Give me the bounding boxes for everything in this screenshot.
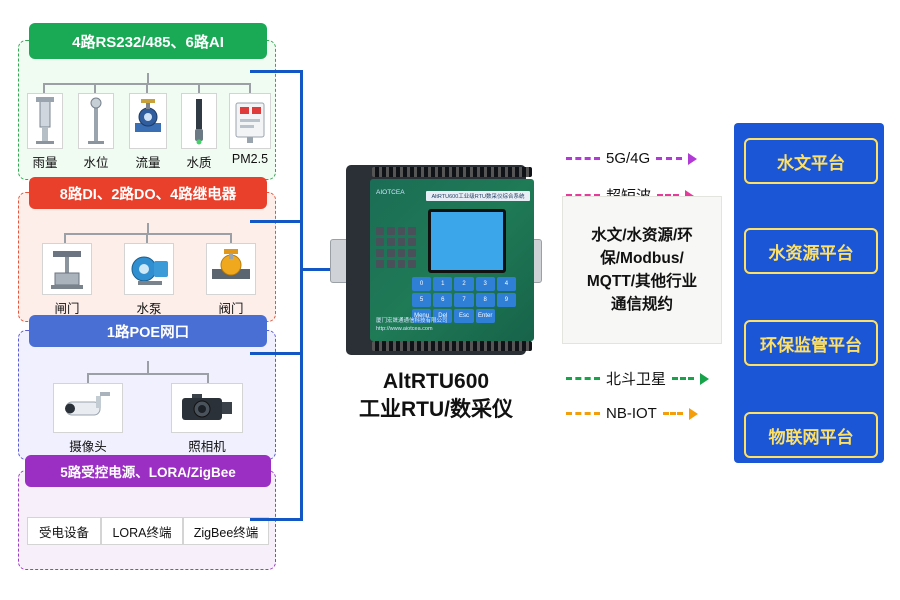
group-serial-analog: 4路RS232/485、6路AI 雨量 xyxy=(18,40,276,180)
still-camera-icon xyxy=(171,383,243,433)
dashed-line-icon xyxy=(656,157,682,160)
group-poe-port: 1路POE网口 摄像头 xyxy=(18,330,276,460)
sluice-gate-icon xyxy=(42,243,92,295)
platform-label: 环保监管平台 xyxy=(760,331,862,356)
connector-drop xyxy=(146,233,148,243)
link-nbiot: NB-IOT xyxy=(566,405,698,422)
connector-drop xyxy=(198,83,200,93)
keypad-key[interactable]: 4 xyxy=(497,277,516,291)
connector-drop xyxy=(249,83,251,93)
keypad-key-esc[interactable]: Esc xyxy=(454,309,473,323)
keypad-key[interactable]: 2 xyxy=(454,277,473,291)
water-quality-probe-icon xyxy=(181,93,217,149)
wire-trunk xyxy=(300,70,303,520)
protocol-list: 水文/水资源/环 保/Modbus/ MQTT/其他行业 通信规约 xyxy=(562,196,722,344)
device-zigbee-terminal: ZigBee终端 xyxy=(183,517,269,545)
arrow-right-icon xyxy=(688,153,697,165)
device-caption: PM2.5 xyxy=(232,152,268,166)
device-flow-meter: 流量 xyxy=(127,93,169,171)
wire-branch-group1 xyxy=(250,70,303,73)
device-rain-gauge: 雨量 xyxy=(25,93,65,171)
zigbee-terminal-label: ZigBee终端 xyxy=(183,517,269,545)
device-ip-camera: 摄像头 xyxy=(53,383,123,455)
device-brand: AIOTCEA xyxy=(376,189,405,196)
lora-terminal-label: LORA终端 xyxy=(101,517,183,545)
terminal-strip-bottom xyxy=(372,341,532,351)
protocol-line-4: 通信规约 xyxy=(587,293,697,316)
keypad-key[interactable]: 7 xyxy=(454,293,473,307)
powered-device-label: 受电设备 xyxy=(27,517,101,545)
link-5g4g: 5G/4G xyxy=(566,150,697,167)
wire-branch-group3 xyxy=(250,352,303,355)
dashed-line-icon xyxy=(672,377,694,380)
flow-meter-icon xyxy=(129,93,167,149)
device-lora-terminal: LORA终端 xyxy=(101,517,183,545)
protocol-line-3: MQTT/其他行业 xyxy=(587,270,697,293)
link-label: 5G/4G xyxy=(606,150,650,167)
device-valve: 阀门 xyxy=(205,243,257,317)
device-footer: 厦门宏晟通通信科技有限公司 http://www.aiotcea.com xyxy=(376,317,448,334)
keypad-key[interactable]: 9 xyxy=(497,293,516,307)
connector-stem xyxy=(147,73,149,83)
device-caption: 流量 xyxy=(135,152,160,171)
device-powered-device: 受电设备 xyxy=(27,517,101,545)
platform-label: 水资源平台 xyxy=(769,239,854,264)
device-lcd-screen[interactable] xyxy=(428,209,506,273)
platform-iot[interactable]: 物联网平台 xyxy=(744,412,878,458)
dashed-line-icon xyxy=(566,157,600,160)
group-digital-io-header: 8路DI、2路DO、4路继电器 xyxy=(29,177,267,209)
keypad-key[interactable]: 8 xyxy=(476,293,495,307)
device-website: http://www.aiotcea.com xyxy=(376,325,448,333)
water-pump-icon xyxy=(124,243,174,295)
protocol-text: 水文/水资源/环 保/Modbus/ MQTT/其他行业 通信规约 xyxy=(587,224,697,317)
arrow-right-icon xyxy=(689,408,698,420)
connector-drop xyxy=(64,233,66,243)
keypad-key[interactable]: 1 xyxy=(433,277,452,291)
connector-drop xyxy=(43,83,45,93)
platform-environment[interactable]: 环保监管平台 xyxy=(744,320,878,366)
rtu-device: AIOTCEA AltRTU600工业级RTU数采仪综合系统 0 1 2 3 4… xyxy=(330,165,542,355)
device-type: 工业RTU/数采仪 xyxy=(318,396,554,424)
device-company: 厦门宏晟通通信科技有限公司 xyxy=(376,317,448,325)
device-model: AltRTU600 xyxy=(318,368,554,396)
keypad-key[interactable]: 5 xyxy=(412,293,431,307)
ip-camera-icon xyxy=(53,383,123,433)
link-label: NB-IOT xyxy=(606,405,657,422)
protocol-line-2: 保/Modbus/ xyxy=(587,247,697,270)
device-caption-block: AltRTU600 工业RTU/数采仪 xyxy=(318,368,554,425)
wire-to-device xyxy=(300,268,334,271)
device-pm25-sensor: PM2.5 xyxy=(227,93,273,166)
connector-bus xyxy=(64,233,232,235)
dashed-line-icon xyxy=(663,412,683,415)
connector-drop xyxy=(146,83,148,93)
platform-label: 水文平台 xyxy=(777,149,845,174)
rain-gauge-icon xyxy=(27,93,63,149)
valve-icon xyxy=(206,243,256,295)
group-digital-io: 8路DI、2路DO、4路继电器 闸门 xyxy=(18,192,276,322)
group-controlled-power-header: 5路受控电源、LORA/ZigBee xyxy=(25,455,271,487)
connector-drop xyxy=(94,83,96,93)
dashed-line-icon xyxy=(566,377,600,380)
device-sluice-gate: 闸门 xyxy=(41,243,93,317)
device-body: AIOTCEA AltRTU600工业级RTU数采仪综合系统 0 1 2 3 4… xyxy=(346,165,526,355)
connector-drop xyxy=(207,373,209,383)
device-water-quality-probe: 水质 xyxy=(179,93,219,171)
platform-label: 物联网平台 xyxy=(769,423,854,448)
keypad-key[interactable]: 3 xyxy=(476,277,495,291)
connector-bus xyxy=(87,373,209,375)
protocol-line-1: 水文/水资源/环 xyxy=(587,224,697,247)
keypad-key-enter[interactable]: Enter xyxy=(476,309,495,323)
connector-drop xyxy=(87,373,89,383)
device-caption: 照相机 xyxy=(188,436,226,455)
wire-branch-group4 xyxy=(250,518,303,521)
keypad-key[interactable]: 6 xyxy=(433,293,452,307)
indicator-led-array xyxy=(376,227,416,271)
link-label: 北斗卫星 xyxy=(606,368,666,389)
wire-branch-group2 xyxy=(250,220,303,223)
device-still-camera: 照相机 xyxy=(171,383,243,455)
controlled-power-items: 受电设备 LORA终端 ZigBee终端 xyxy=(27,515,269,545)
device-caption: 雨量 xyxy=(32,152,57,171)
device-caption: 摄像头 xyxy=(69,436,107,455)
device-top-label: AltRTU600工业级RTU数采仪综合系统 xyxy=(426,191,530,201)
arrow-right-icon xyxy=(700,373,709,385)
dashed-line-icon xyxy=(566,412,600,415)
platform-water-resources[interactable]: 水资源平台 xyxy=(744,228,878,274)
terminal-strip-top xyxy=(372,167,532,177)
connector-stem xyxy=(147,223,149,233)
link-beidou: 北斗卫星 xyxy=(566,368,709,389)
device-water-level-sensor: 水位 xyxy=(76,93,116,171)
group-controlled-power: 5路受控电源、LORA/ZigBee 受电设备 LORA终端 ZigBee终端 xyxy=(18,470,276,570)
water-level-sensor-icon xyxy=(78,93,114,149)
keypad-key[interactable]: 0 xyxy=(412,277,431,291)
group-poe-port-header: 1路POE网口 xyxy=(29,315,267,347)
connector-drop xyxy=(230,233,232,243)
device-water-pump: 水泵 xyxy=(123,243,175,317)
connector-stem xyxy=(147,361,149,373)
diagram-canvas: 4路RS232/485、6路AI 雨量 xyxy=(0,0,900,600)
device-caption: 水质 xyxy=(186,152,211,171)
group-serial-analog-header: 4路RS232/485、6路AI xyxy=(29,23,267,59)
platform-hydrology[interactable]: 水文平台 xyxy=(744,138,878,184)
device-caption: 水位 xyxy=(83,152,108,171)
pm25-sensor-icon xyxy=(229,93,271,149)
